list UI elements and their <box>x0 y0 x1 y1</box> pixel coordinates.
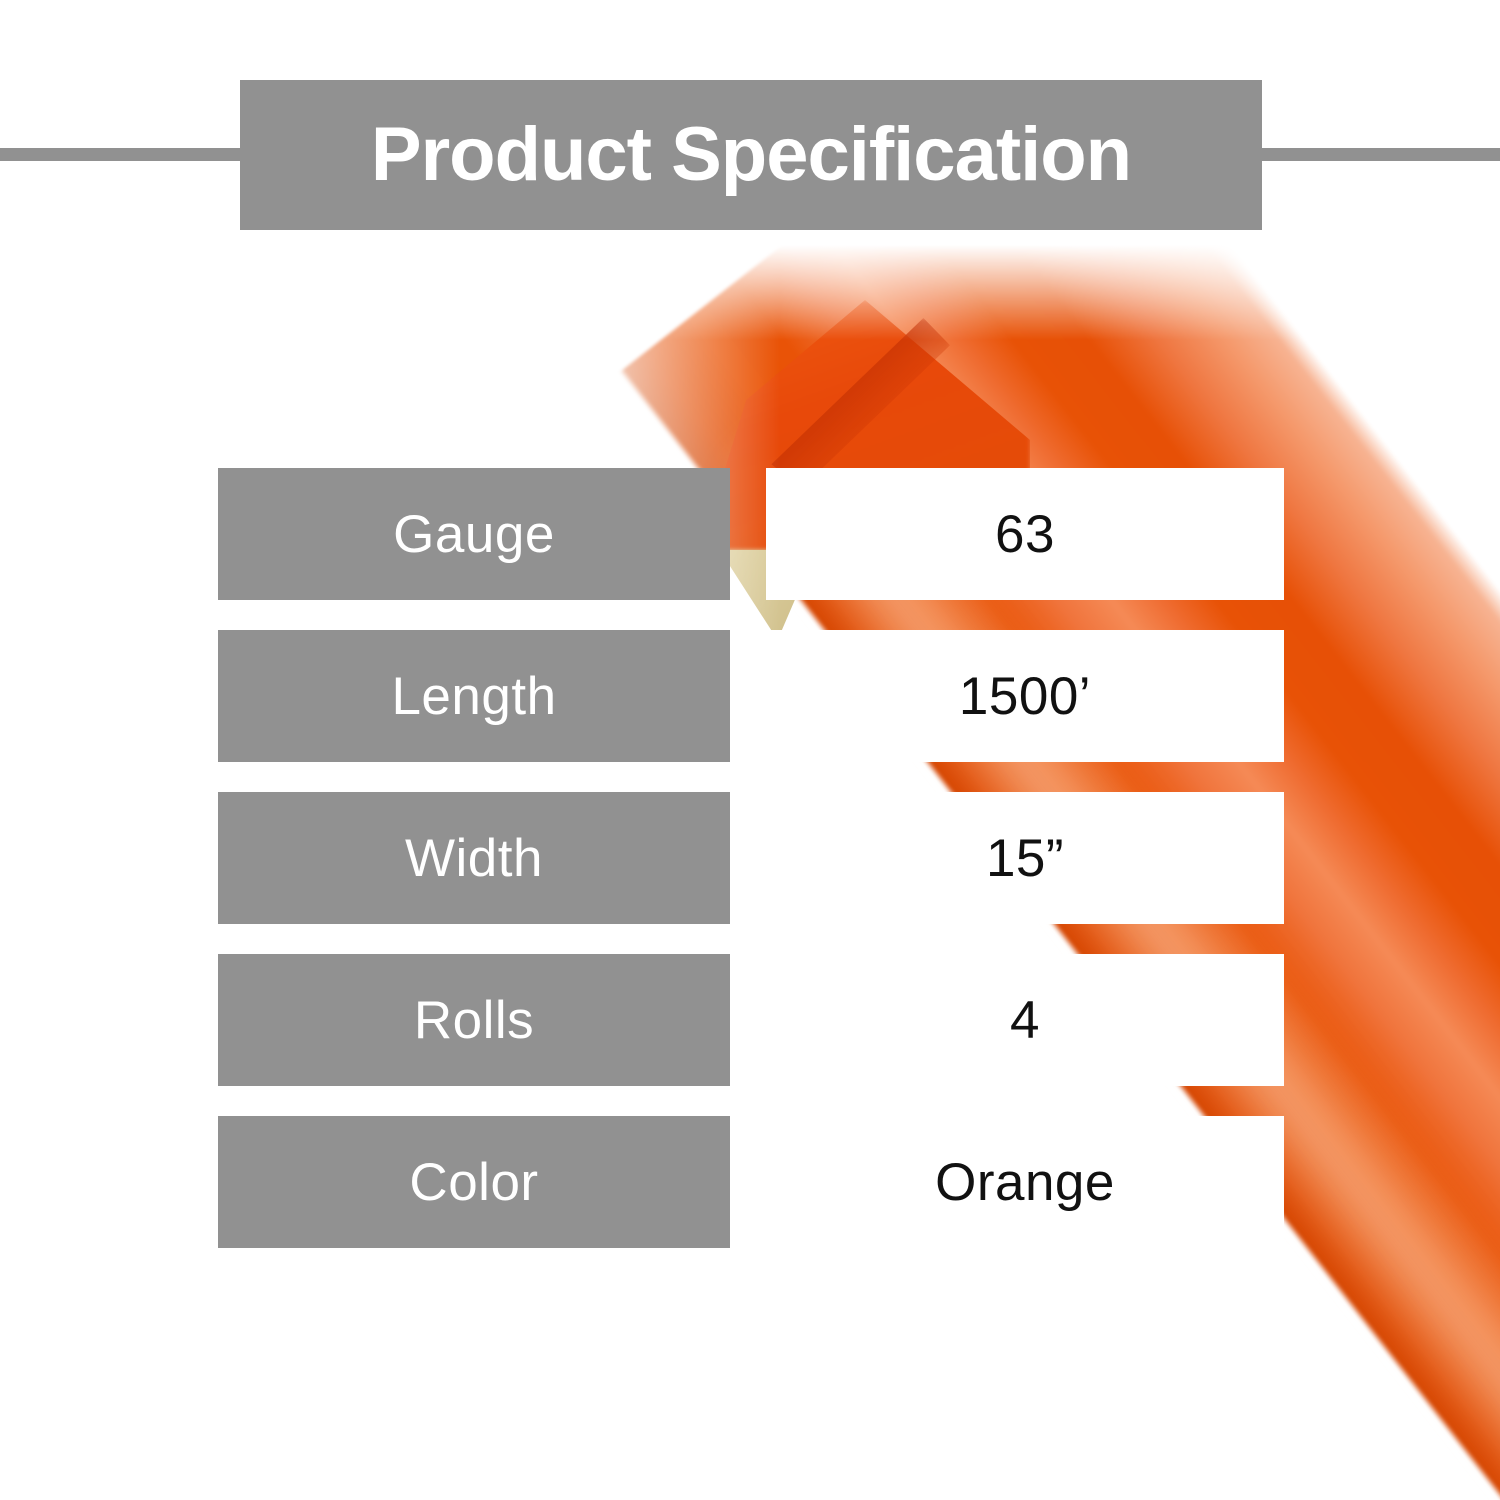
product-specification-page: Product Specification Gauge 63 Length 15… <box>0 0 1500 1500</box>
page-header: Product Specification <box>0 80 1500 230</box>
roll-tip-crease-shape <box>760 318 950 488</box>
specification-table: Gauge 63 Length 1500’ Width 15” Rolls 4 … <box>0 468 1500 1278</box>
table-row: Length 1500’ <box>0 630 1500 762</box>
table-row: Rolls 4 <box>0 954 1500 1086</box>
header-rule-left <box>0 148 250 161</box>
spec-label-rolls: Rolls <box>218 954 730 1086</box>
spec-value-width: 15” <box>766 792 1284 924</box>
page-title: Product Specification <box>371 117 1131 193</box>
spec-value-color: Orange <box>766 1116 1284 1248</box>
spec-label-width: Width <box>218 792 730 924</box>
spec-label-gauge: Gauge <box>218 468 730 600</box>
spec-value-gauge: 63 <box>766 468 1284 600</box>
spec-label-length: Length <box>218 630 730 762</box>
spec-value-rolls: 4 <box>766 954 1284 1086</box>
table-row: Width 15” <box>0 792 1500 924</box>
spec-value-length: 1500’ <box>766 630 1284 762</box>
header-banner: Product Specification <box>240 80 1262 230</box>
header-rule-right <box>1250 148 1500 161</box>
table-row: Gauge 63 <box>0 468 1500 600</box>
spec-label-color: Color <box>218 1116 730 1248</box>
table-row: Color Orange <box>0 1116 1500 1248</box>
